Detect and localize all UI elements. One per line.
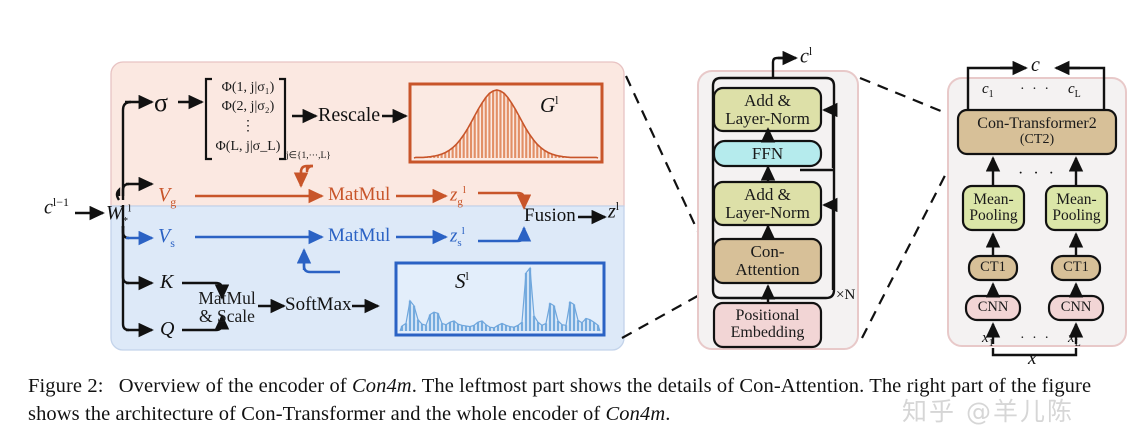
figure-container: cl−1 W*l σ Φ(1, j|σ₁) Φ(2, j|σ₂) ⋮ Φ(L, … xyxy=(0,0,1140,448)
matrix-subscript: j∈{1,···,L} xyxy=(286,150,331,161)
rescale-label: Rescale xyxy=(318,104,380,127)
sigma-label: σ xyxy=(154,88,168,118)
caption-model-name-1: Con4m xyxy=(352,375,412,397)
softmax-label: SoftMax xyxy=(285,294,352,316)
right-ellipsis: · · · xyxy=(1018,165,1057,183)
mid-blocks xyxy=(714,88,821,347)
score-plot-title: Sl xyxy=(455,269,469,294)
right-token-dots: · · · xyxy=(1020,82,1051,98)
caption-text-2b: . xyxy=(665,403,670,425)
repeat-n-label: ×N xyxy=(836,287,855,304)
zs-label: zsl xyxy=(450,225,465,249)
vs-label: Vs xyxy=(158,225,175,251)
right-input-right: xL xyxy=(1068,330,1081,349)
right-token-left: c1 xyxy=(982,81,994,100)
right-input-dots: · · · xyxy=(1020,331,1051,347)
matmul-top-label: MatMul xyxy=(328,184,390,206)
right-token-right: cL xyxy=(1068,81,1081,100)
gaussian-plot-title: Gl xyxy=(540,93,559,118)
right-output-label: c xyxy=(1031,54,1040,77)
zg-label: zgl xyxy=(450,184,466,208)
fusion-label: Fusion xyxy=(524,205,576,227)
input-label: cl−1 xyxy=(44,195,69,220)
caption-model-name-2: Con4m xyxy=(606,403,666,425)
right-input-left: x1 xyxy=(982,330,994,349)
caption-text-1a: Overview of the encoder of xyxy=(119,375,352,397)
matmul-bottom-label: MatMul xyxy=(328,225,390,247)
mid-output-label: cl xyxy=(800,44,812,69)
vg-label: Vg xyxy=(158,184,176,210)
k-label: K xyxy=(160,271,173,294)
figure-caption: Figure 2: Overview of the encoder of Con… xyxy=(28,372,1118,428)
q-label: Q xyxy=(160,318,174,341)
output-label: zl xyxy=(608,199,619,224)
caption-figure-label: Figure 2: xyxy=(28,375,104,397)
dashed-connector-right xyxy=(860,78,958,338)
weight-label: W*l xyxy=(106,202,131,227)
caption-text-1b: . The leftmost part shows the details of… xyxy=(412,375,946,397)
right-input-label: x xyxy=(1028,348,1036,370)
